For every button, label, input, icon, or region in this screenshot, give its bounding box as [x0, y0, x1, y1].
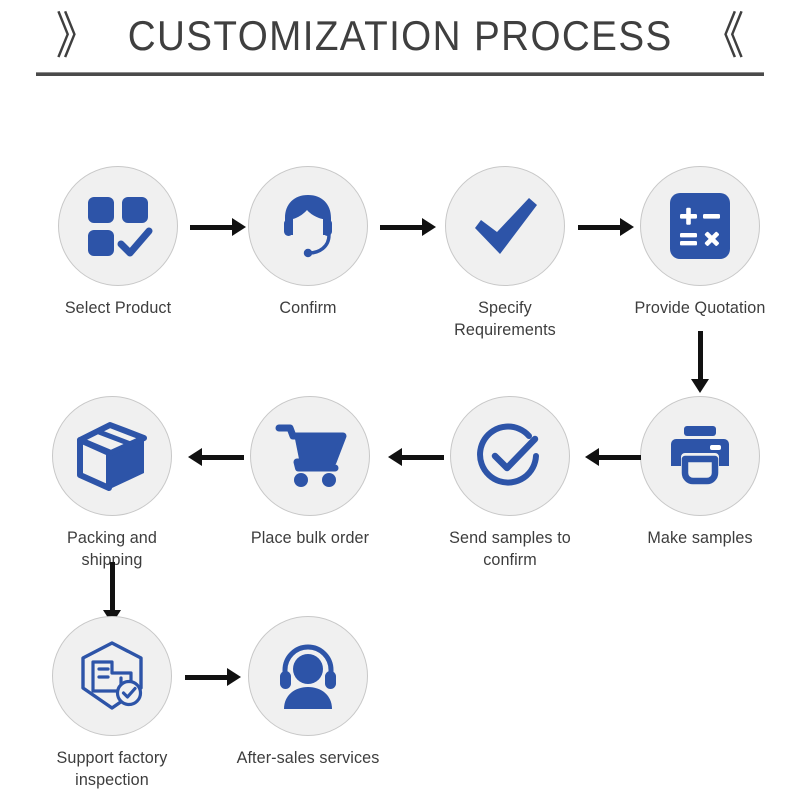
customization-process-infographic: 》CUSTOMIZATION PROCESS《 Select Product — [0, 0, 800, 800]
chevron-left-decoration: 》 — [56, 8, 99, 64]
page-title: 》CUSTOMIZATION PROCESS《 — [0, 8, 800, 64]
shopping-cart-icon — [273, 422, 347, 490]
page-title-text: CUSTOMIZATION PROCESS — [126, 8, 675, 64]
customer-service-agent-icon — [271, 189, 345, 263]
step-icon-circle — [640, 396, 760, 516]
calculator-icon — [667, 191, 733, 261]
step-icon-circle — [250, 396, 370, 516]
step-icon-circle — [248, 616, 368, 736]
step-icon-circle — [52, 616, 172, 736]
step-label: Place bulk order — [234, 527, 386, 549]
step-icon-circle — [248, 166, 368, 286]
step-label: Specify Requirements — [429, 297, 581, 341]
step-label: Provide Quotation — [624, 297, 776, 319]
step-label: Confirm — [232, 297, 384, 319]
step-label: Send samples to confirm — [434, 527, 586, 571]
step-node-packing-and-shipping[interactable]: Packing and shipping — [32, 396, 192, 571]
step-label: Support factory inspection — [36, 747, 188, 791]
arrow-step7-to-step8 — [188, 448, 244, 466]
step-node-after-sales-services[interactable]: After-sales services — [228, 616, 388, 769]
checkmark-icon — [467, 188, 543, 264]
chevron-right-decoration: 《 — [702, 8, 745, 64]
arrow-step6-to-step7 — [388, 448, 444, 466]
grid-check-icon — [82, 190, 154, 262]
headset-support-icon — [271, 641, 345, 711]
step-label: Make samples — [624, 527, 776, 549]
arrow-step8-to-step9 — [103, 562, 121, 624]
package-box-icon — [75, 420, 149, 492]
step-node-specify-requirements[interactable]: Specify Requirements — [425, 166, 585, 341]
step-icon-circle — [58, 166, 178, 286]
step-node-send-samples-to-confirm[interactable]: Send samples to confirm — [430, 396, 590, 571]
printer-icon — [665, 423, 735, 489]
step-icon-circle — [52, 396, 172, 516]
step-icon-circle — [640, 166, 760, 286]
step-node-confirm[interactable]: Confirm — [228, 166, 388, 319]
step-node-make-samples[interactable]: Make samples — [620, 396, 780, 549]
factory-inspection-shield-icon — [74, 638, 150, 714]
step-label: After-sales services — [232, 747, 384, 769]
step-node-select-product[interactable]: Select Product — [38, 166, 198, 319]
arrow-step5-to-step6 — [585, 448, 641, 466]
arrow-step4-to-step5 — [691, 331, 709, 393]
step-node-provide-quotation[interactable]: Provide Quotation — [620, 166, 780, 319]
step-node-support-factory-inspection[interactable]: Support factory inspection — [32, 616, 192, 791]
title-divider — [36, 72, 764, 76]
circle-check-icon — [473, 419, 547, 493]
step-icon-circle — [445, 166, 565, 286]
step-node-place-bulk-order[interactable]: Place bulk order — [230, 396, 390, 549]
step-label: Select Product — [42, 297, 194, 319]
step-icon-circle — [450, 396, 570, 516]
header: 》CUSTOMIZATION PROCESS《 — [0, 0, 800, 92]
